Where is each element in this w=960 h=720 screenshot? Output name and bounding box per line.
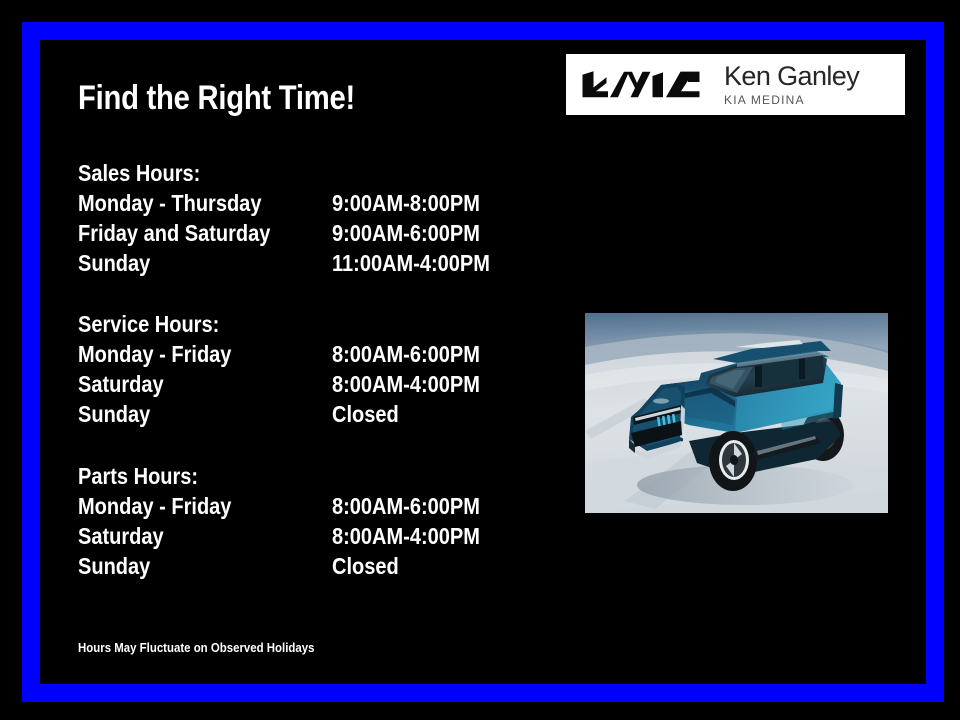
hours-row: Saturday 8:00AM-4:00PM [78, 521, 548, 551]
page-title: Find the Right Time! [78, 78, 355, 118]
hours-time-value: 8:00AM-4:00PM [332, 369, 480, 399]
dealer-subtitle: KIA MEDINA [724, 94, 859, 106]
section-heading-sales: Sales Hours: [78, 158, 548, 188]
hours-time-value: 11:00AM-4:00PM [332, 248, 490, 278]
hours-day-label: Monday - Friday [78, 491, 231, 521]
hours-time-value: Closed [332, 399, 399, 429]
hours-time-value: Closed [332, 551, 399, 581]
hours-time-value: 8:00AM-6:00PM [332, 339, 480, 369]
hours-day-label: Sunday [78, 248, 150, 278]
hours-time-value: 9:00AM-6:00PM [332, 218, 480, 248]
hours-block-parts: Parts Hours: Monday - Friday 8:00AM-6:00… [78, 461, 548, 581]
section-heading-service: Service Hours: [78, 309, 548, 339]
hours-block-service: Service Hours: Monday - Friday 8:00AM-6:… [78, 309, 548, 429]
hours-day-label: Sunday [78, 551, 150, 581]
dealer-name-block: Ken Ganley KIA MEDINA [724, 63, 859, 106]
hours-day-label: Saturday [78, 521, 164, 551]
kia-logo-icon [580, 70, 702, 100]
hours-time-value: 8:00AM-4:00PM [332, 521, 480, 551]
section-heading-label: Parts Hours: [78, 461, 198, 491]
hours-day-label: Monday - Thursday [78, 188, 261, 218]
hours-day-label: Saturday [78, 369, 164, 399]
hours-row: Friday and Saturday 9:00AM-6:00PM [78, 218, 548, 248]
holiday-disclaimer: Hours May Fluctuate on Observed Holidays [78, 640, 314, 656]
dealer-logo-plate: Ken Ganley KIA MEDINA [566, 54, 905, 115]
hours-time-value: 8:00AM-6:00PM [332, 491, 480, 521]
hours-row: Sunday Closed [78, 399, 548, 429]
hours-row: Monday - Friday 8:00AM-6:00PM [78, 491, 548, 521]
hours-block-sales: Sales Hours: Monday - Thursday 9:00AM-8:… [78, 158, 548, 278]
hours-row: Monday - Thursday 9:00AM-8:00PM [78, 188, 548, 218]
section-heading-parts: Parts Hours: [78, 461, 548, 491]
kia-ev9-suv-photo [585, 313, 888, 513]
section-heading-label: Service Hours: [78, 309, 219, 339]
hours-day-label: Monday - Friday [78, 339, 231, 369]
hours-day-label: Friday and Saturday [78, 218, 270, 248]
hours-time-value: 9:00AM-8:00PM [332, 188, 480, 218]
dealer-name: Ken Ganley [724, 63, 859, 90]
hours-row: Saturday 8:00AM-4:00PM [78, 369, 548, 399]
hours-row: Sunday Closed [78, 551, 548, 581]
hours-row: Sunday 11:00AM-4:00PM [78, 248, 548, 278]
hours-row: Monday - Friday 8:00AM-6:00PM [78, 339, 548, 369]
slide-canvas: Find the Right Time! Sales Hours: Monday… [0, 0, 960, 720]
section-heading-label: Sales Hours: [78, 158, 200, 188]
hours-day-label: Sunday [78, 399, 150, 429]
